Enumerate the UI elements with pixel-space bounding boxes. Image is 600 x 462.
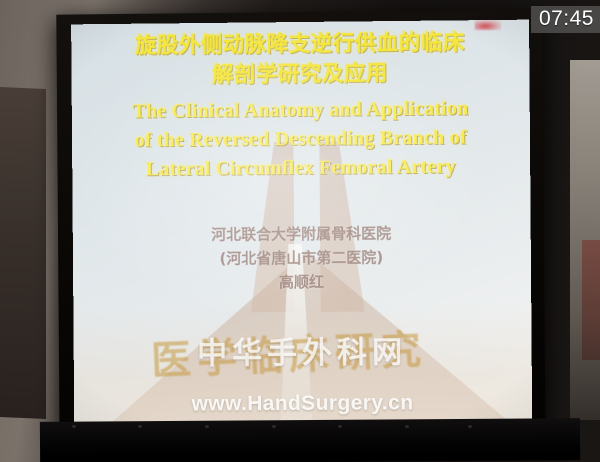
affiliation-alternate-name: (河北省唐山市第二医院) [73, 244, 531, 271]
slide-affiliation: 河北联合大学附属骨科医院 (河北省唐山市第二医院) 高顺红 [73, 220, 531, 295]
slide-title-chinese: 旋股外侧动脉降支逆行供血的临床 解剖学研究及应用 [71, 28, 529, 93]
affiliation-institution: 河北联合大学附属骨科医院 [73, 220, 531, 248]
slide-title-english-line-1: The Clinical Anatomy and Application [72, 94, 530, 127]
slide-text-block: 旋股外侧动脉降支逆行供血的临床 解剖学研究及应用 The Clinical An… [71, 20, 532, 426]
slide-title-chinese-line-2: 解剖学研究及应用 [71, 58, 529, 92]
camera-timestamp-overlay: 07:45 [531, 6, 600, 33]
slide-title-english: The Clinical Anatomy and Application of … [72, 94, 531, 185]
wall-left-dark-panel [0, 87, 46, 419]
photograph-of-projected-slide: 医学临床研究 旋股外侧动脉降支逆行供血的临床 解剖学研究及应用 The Clin… [0, 0, 600, 462]
slide-title-english-line-2: of the Reversed Descending Branch of [72, 123, 530, 156]
wall-right-red-object [582, 240, 600, 360]
slide-title-chinese-line-1: 旋股外侧动脉降支逆行供血的临床 [71, 28, 529, 63]
projection-screen-surface: 医学临床研究 旋股外侧动脉降支逆行供血的临床 解剖学研究及应用 The Clin… [71, 20, 532, 426]
slide-title-english-line-3: Lateral Circumflex Femoral Artery [72, 152, 530, 185]
presenter-name: 高顺红 [73, 268, 531, 295]
bezel-indicator-dots [60, 425, 490, 433]
